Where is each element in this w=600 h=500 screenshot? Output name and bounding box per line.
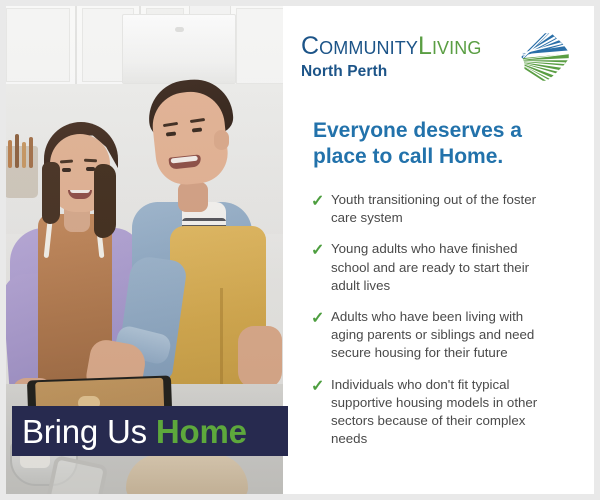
girl-eye: [62, 168, 71, 172]
girl-eye: [86, 167, 95, 171]
list-item: ✓ Individuals who don't fit typical supp…: [311, 376, 572, 449]
organization-logo: CommunityLiving North Perth: [301, 32, 572, 84]
eligibility-list: ✓ Youth transitioning out of the foster …: [311, 191, 572, 448]
cabinet-door: [230, 6, 283, 90]
logo-word-community: Community: [301, 32, 418, 60]
check-icon: ✓: [311, 191, 331, 213]
page-title: Everyone deserves a place to call Home.: [313, 118, 563, 171]
list-item: ✓ Youth transitioning out of the foster …: [311, 191, 572, 227]
logo-subtitle: North Perth: [301, 63, 516, 81]
list-item-label: Individuals who don't fit typical suppor…: [331, 376, 556, 449]
diamond-rays-logo-icon: [518, 30, 572, 84]
rolled-dough: [126, 454, 248, 494]
girl-hair-strand: [42, 162, 60, 224]
girl-eyebrow: [84, 159, 97, 163]
boy-neck: [178, 182, 208, 212]
poster: Bring Us Home CommunityLiving North Pert…: [0, 0, 600, 500]
list-item-label: Youth transitioning out of the foster ca…: [331, 191, 556, 227]
boy-hand: [238, 326, 282, 388]
boy-ear: [214, 130, 229, 150]
content-panel: CommunityLiving North Perth: [283, 6, 594, 494]
banner-text-green: Home: [156, 413, 247, 450]
cabinet-door: [6, 6, 76, 88]
logo-wordmark: CommunityLiving North Perth: [301, 32, 516, 81]
utensil-crock: [6, 146, 38, 198]
banner-text-white: Bring Us: [22, 413, 147, 450]
list-item: ✓ Young adults who have finished school …: [311, 240, 572, 295]
list-item-label: Young adults who have finished school an…: [331, 240, 556, 295]
check-icon: ✓: [311, 376, 331, 398]
check-icon: ✓: [311, 240, 331, 262]
bring-us-home-banner: Bring Us Home: [12, 406, 288, 456]
logo-primary-line: CommunityLiving: [301, 34, 516, 59]
range-hood: [122, 14, 236, 84]
check-icon: ✓: [311, 308, 331, 330]
banner-text: Bring Us Home: [12, 415, 247, 448]
list-item: ✓ Adults who have been living with aging…: [311, 308, 572, 363]
logo-word-living: Living: [418, 32, 482, 60]
list-item-label: Adults who have been living with aging p…: [331, 308, 556, 363]
girl-hair-strand: [94, 164, 116, 238]
